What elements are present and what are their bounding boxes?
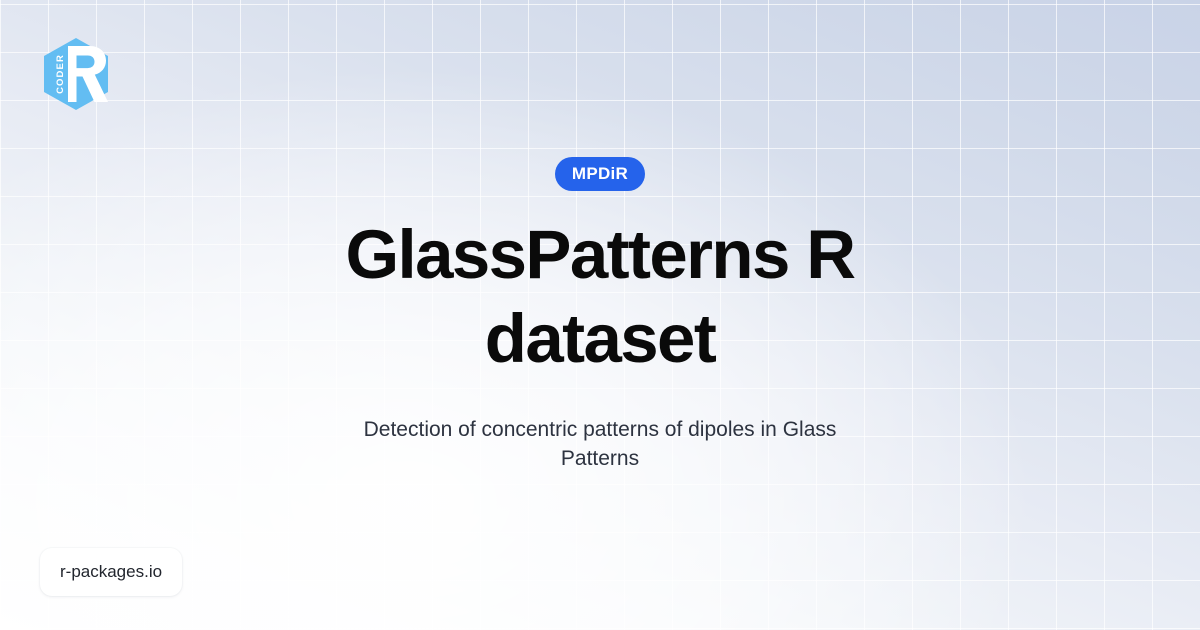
hero-block: MPDiR GlassPatterns R dataset Detection …	[0, 0, 1200, 630]
page-subtitle: Detection of concentric patterns of dipo…	[360, 415, 840, 473]
social-preview-card: CODER MPDiR GlassPatterns R dataset Dete…	[0, 0, 1200, 630]
page-title: GlassPatterns R dataset	[270, 213, 930, 381]
package-badge: MPDiR	[555, 157, 645, 191]
site-badge[interactable]: r-packages.io	[40, 548, 182, 596]
